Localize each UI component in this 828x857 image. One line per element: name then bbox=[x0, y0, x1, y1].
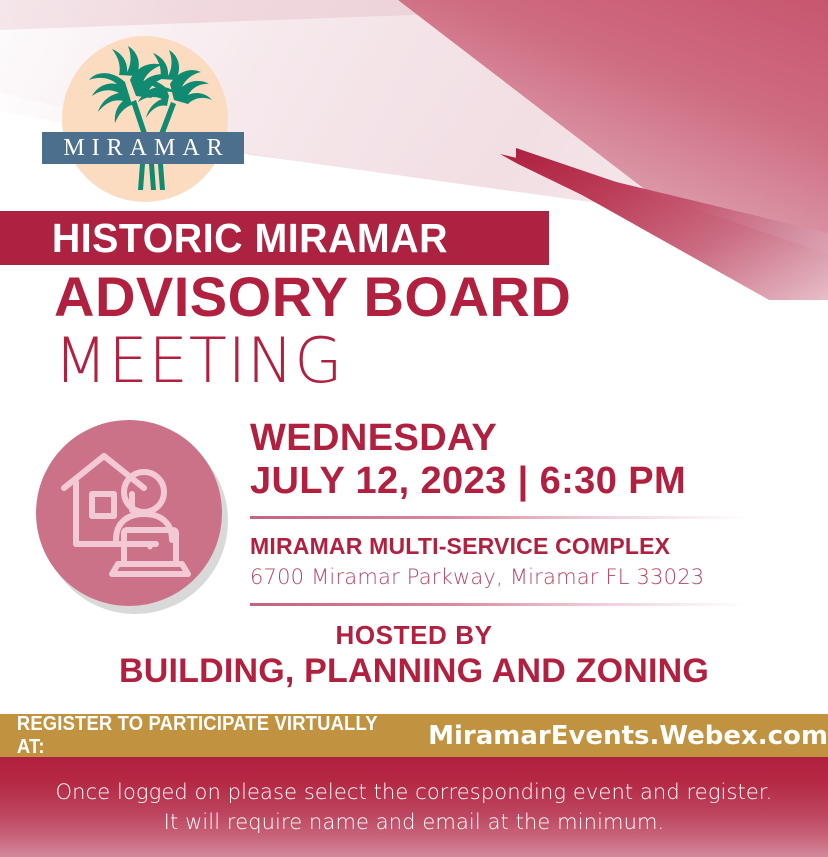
footer-instruction-line-2: It will require name and email at the mi… bbox=[164, 807, 665, 837]
event-date-time: JULY 12, 2023 | 6:30 PM bbox=[250, 461, 750, 502]
advisory-board-title: ADVISORY BOARD bbox=[54, 268, 571, 325]
register-bar: REGISTER TO PARTICIPATE VIRTUALLY AT: Mi… bbox=[0, 714, 828, 757]
virtual-meeting-badge bbox=[36, 420, 222, 606]
event-flyer: MIRAMAR HISTORIC MIRAMAR ADVISORY BOARD … bbox=[0, 0, 828, 857]
event-details: WEDNESDAY JULY 12, 2023 | 6:30 PM MIRAMA… bbox=[250, 418, 750, 606]
logo-nameplate: MIRAMAR bbox=[42, 132, 244, 164]
details-divider-bottom bbox=[250, 603, 748, 606]
details-divider-top bbox=[250, 516, 748, 519]
hosted-by-label: HOSTED BY bbox=[0, 620, 828, 651]
miramar-logo: MIRAMAR bbox=[62, 36, 228, 202]
historic-miramar-banner-text: HISTORIC MIRAMAR bbox=[0, 215, 448, 262]
register-label: REGISTER TO PARTICIPATE VIRTUALLY AT: bbox=[17, 713, 404, 759]
event-venue-address: 6700 Miramar Parkway, Miramar FL 33023 bbox=[250, 565, 750, 589]
logo-nameplate-text: MIRAMAR bbox=[56, 136, 229, 160]
house-person-laptop-icon bbox=[60, 448, 200, 580]
event-day: WEDNESDAY bbox=[250, 418, 750, 459]
meeting-title: MEETING bbox=[54, 330, 343, 392]
event-venue-name: MIRAMAR MULTI-SERVICE COMPLEX bbox=[250, 533, 750, 560]
hosting-department: BUILDING, PLANNING AND ZONING bbox=[0, 652, 828, 691]
historic-miramar-banner: HISTORIC MIRAMAR bbox=[0, 211, 549, 265]
footer-instruction-line-1: Once logged on please select the corresp… bbox=[56, 777, 773, 807]
footer-instructions: Once logged on please select the corresp… bbox=[0, 757, 828, 857]
register-url-link[interactable]: MiramarEvents.Webex.com bbox=[428, 721, 828, 751]
palm-trees-icon bbox=[70, 40, 220, 190]
